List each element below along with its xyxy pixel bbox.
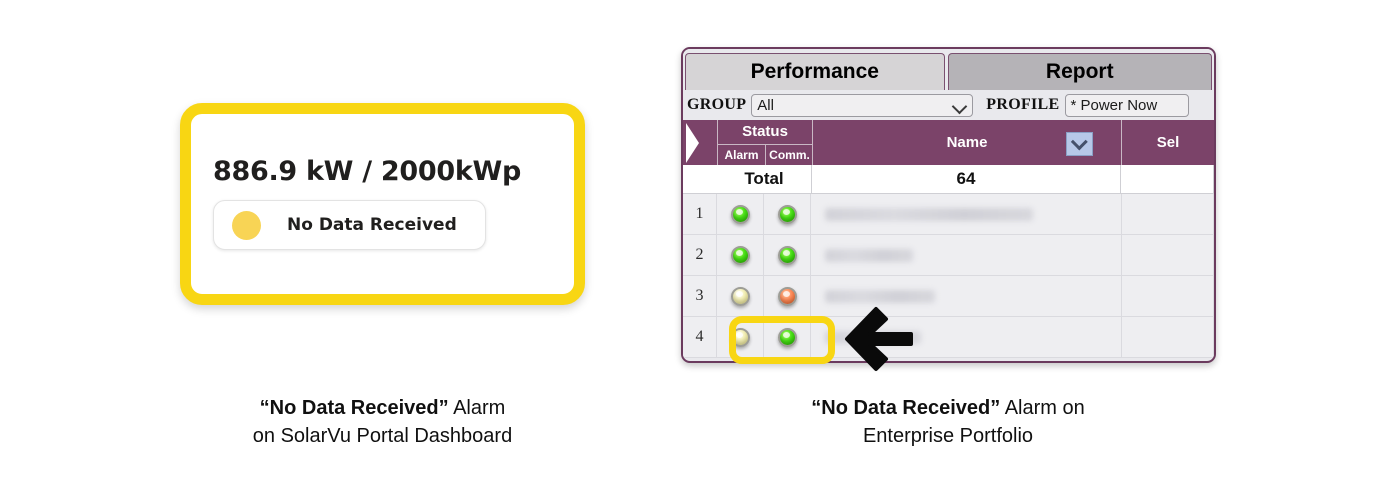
total-row-label: Total [717,165,812,193]
alarm-status-cell[interactable] [717,317,764,357]
redacted-site-name [825,208,1033,221]
power-readout: 886.9 kW / 2000kWp [213,156,552,187]
caption-left-line1: “No Data Received” Alarm [180,394,585,422]
table-row[interactable]: 1 [683,194,1214,235]
status-subheaders: Alarm Comm. [718,145,812,165]
total-row-sel [1121,165,1214,193]
alarm-status-cell[interactable] [717,276,764,316]
table-row[interactable]: 4 [683,317,1214,358]
profile-label: PROFILE [986,96,1059,114]
sel-cell[interactable] [1122,235,1214,275]
status-column-header: Status Alarm Comm. [717,120,813,165]
caption-right-rest: Alarm on [1000,397,1084,419]
alarm-green-led-icon [731,205,750,224]
sel-cell[interactable] [1122,194,1214,234]
name-column-header: Name [813,120,1122,165]
group-select[interactable]: All [751,94,973,117]
sel-column-header: Sel [1122,120,1214,165]
row-index: 3 [683,276,717,316]
filter-bar: GROUP All PROFILE * Power Now [683,90,1214,120]
row-index: 2 [683,235,717,275]
group-label: GROUP [687,96,746,114]
chevron-down-icon [952,98,968,114]
tab-strip: Performance Report [683,49,1214,90]
solarvu-dashboard-figure: 886.9 kW / 2000kWp No Data Received [180,103,585,305]
sel-cell[interactable] [1122,317,1214,357]
comm-status-cell[interactable] [764,276,811,316]
alarm-yellow-led-icon [731,328,750,347]
grid-header-row: Status Alarm Comm. Name Sel [683,120,1214,165]
total-row-index-cell [683,165,717,193]
profile-select-value: * Power Now [1071,97,1158,114]
row-index: 4 [683,317,717,357]
comm-status-cell[interactable] [764,194,811,234]
alarm-yellow-led-icon [731,287,750,306]
total-row: Total 64 [683,165,1214,194]
redacted-site-name [825,290,935,303]
group-select-value: All [757,97,774,114]
status-header-label: Status [718,120,812,145]
caption-left-rest: Alarm [449,397,506,419]
comm-status-cell[interactable] [764,235,811,275]
tab-report[interactable]: Report [948,53,1212,90]
caption-right: “No Data Received” Alarm on Enterprise P… [715,394,1181,450]
alarm-status-cell[interactable] [717,194,764,234]
name-sort-dropdown-button[interactable] [1066,132,1093,156]
sel-cell[interactable] [1122,276,1214,316]
profile-select[interactable]: * Power Now [1065,94,1189,117]
site-name-cell[interactable] [811,194,1122,234]
enterprise-portfolio-panel: Performance Report GROUP All PROFILE * P… [681,47,1216,363]
expand-all-triangle-icon[interactable] [683,120,717,165]
alarm-status-dot-icon [232,211,261,240]
name-header-label: Name [947,134,988,151]
total-row-count: 64 [812,165,1121,193]
alarm-status-pill[interactable]: No Data Received [213,200,486,250]
portfolio-grid: Status Alarm Comm. Name Sel Total 64 123… [683,120,1214,358]
alarm-status-label: No Data Received [287,215,457,235]
site-name-cell[interactable] [811,235,1122,275]
dashboard-card: 886.9 kW / 2000kWp No Data Received [180,103,585,305]
alarm-column-header: Alarm [718,145,766,165]
comm-green-led-icon [778,205,797,224]
table-row[interactable]: 2 [683,235,1214,276]
alarm-status-cell[interactable] [717,235,764,275]
comm-status-cell[interactable] [764,317,811,357]
row-index: 1 [683,194,717,234]
chevron-down-icon [1070,133,1087,150]
redacted-site-name [825,249,913,262]
profile-filter: PROFILE * Power Now [986,94,1188,117]
grid-body: 1234 [683,194,1214,358]
comm-orange-led-icon [778,287,797,306]
comm-green-led-icon [778,328,797,347]
table-row[interactable]: 3 [683,276,1214,317]
caption-left-quote: “No Data Received” [260,397,449,419]
caption-right-line2: Enterprise Portfolio [715,422,1181,450]
caption-right-quote: “No Data Received” [811,397,1000,419]
caption-left-line2: on SolarVu Portal Dashboard [180,422,585,450]
tab-performance[interactable]: Performance [685,53,945,90]
caption-left: “No Data Received” Alarm on SolarVu Port… [180,394,585,450]
comm-column-header: Comm. [766,145,813,165]
dashboard-card-content: 886.9 kW / 2000kWp No Data Received [213,156,552,250]
alarm-green-led-icon [731,246,750,265]
caption-right-line1: “No Data Received” Alarm on [715,394,1181,422]
left-arrow-icon [843,303,915,375]
comm-green-led-icon [778,246,797,265]
